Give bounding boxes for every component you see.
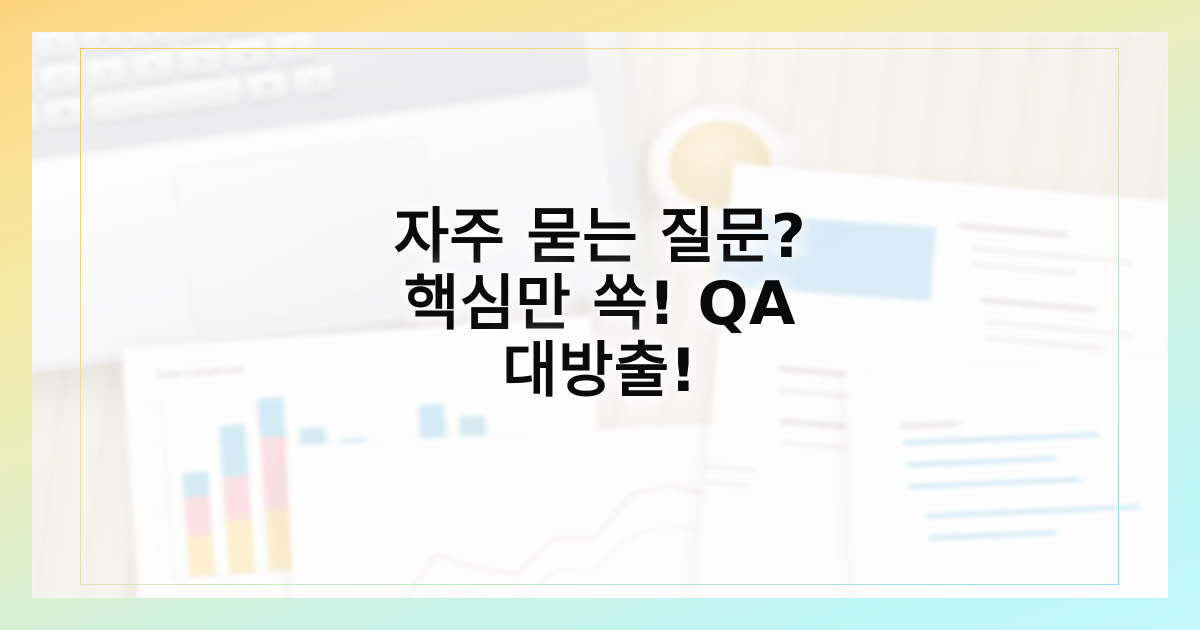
title-line-3: 대방출! xyxy=(0,338,1200,405)
title-line-1: 자주 묻는 질문? xyxy=(0,204,1200,271)
title-line-2: 핵심만 쏙! QA xyxy=(0,271,1200,338)
page-title: 자주 묻는 질문? 핵심만 쏙! QA 대방출! xyxy=(0,204,1200,406)
thumbnail-card: D F G H J K L X C V B N M xyxy=(0,0,1200,630)
